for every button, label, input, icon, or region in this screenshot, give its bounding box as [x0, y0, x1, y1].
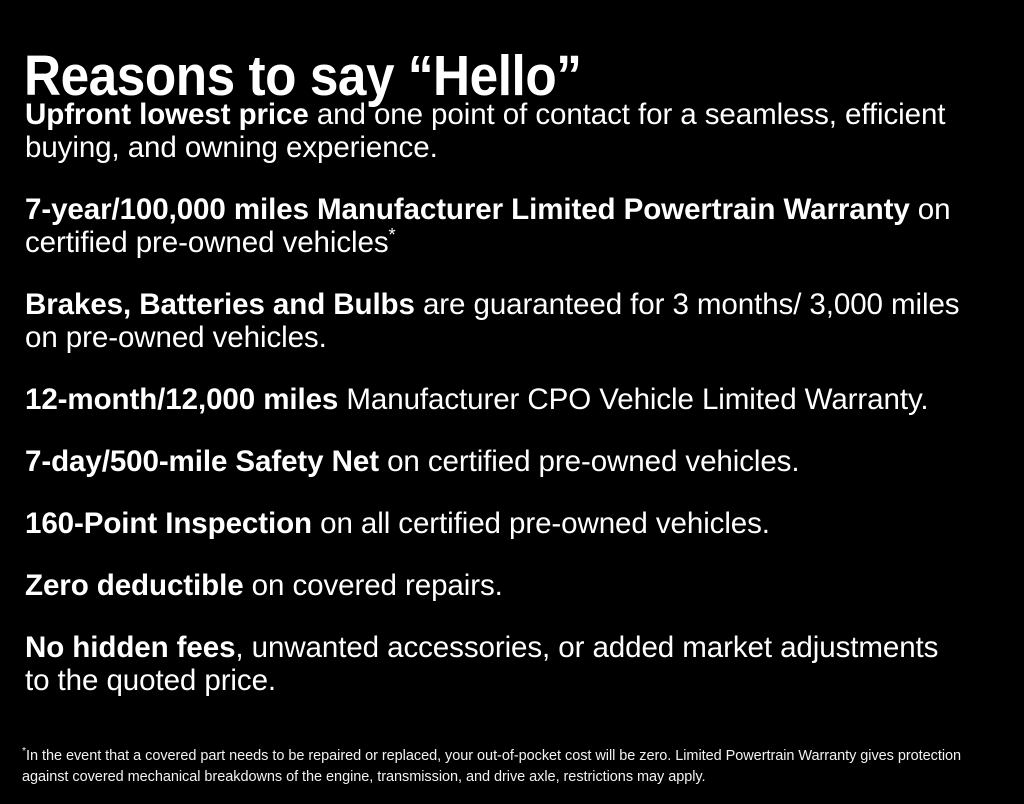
list-item: Zero deductible on covered repairs. — [25, 569, 963, 602]
list-item: 7-day/500-mile Safety Net on certified p… — [25, 445, 963, 478]
reasons-list: Upfront lowest price and one point of co… — [25, 98, 977, 697]
list-item-lead: No hidden fees — [25, 631, 235, 664]
footnote-text: In the event that a covered part needs t… — [22, 748, 961, 786]
list-item: Brakes, Batteries and Bulbs are guarante… — [25, 288, 963, 354]
list-item-lead: 160-Point Inspection — [25, 507, 312, 540]
list-item-lead: 7-year/100,000 miles Manufacturer Limite… — [25, 193, 910, 226]
list-item-lead: Upfront lowest price — [25, 98, 309, 131]
list-item: No hidden fees, unwanted accessories, or… — [25, 631, 963, 697]
list-item-rest: on certified pre-owned vehicles. — [379, 445, 800, 478]
list-item: 7-year/100,000 miles Manufacturer Limite… — [25, 193, 963, 259]
list-item-lead: Brakes, Batteries and Bulbs — [25, 288, 415, 321]
footnote-marker: * — [389, 224, 396, 245]
list-item-rest: Manufacturer CPO Vehicle Limited Warrant… — [338, 383, 928, 416]
list-item-lead: 12-month/12,000 miles — [25, 383, 338, 416]
list-item-rest: on all certified pre-owned vehicles. — [312, 507, 770, 540]
footnote-disclaimer: *In the event that a covered part needs … — [22, 746, 982, 789]
list-item-lead: Zero deductible — [25, 569, 244, 602]
list-item: 160-Point Inspection on all certified pr… — [25, 507, 963, 540]
list-item: 12-month/12,000 miles Manufacturer CPO V… — [25, 383, 963, 416]
list-item: Upfront lowest price and one point of co… — [25, 98, 963, 164]
list-item-rest: on covered repairs. — [244, 569, 503, 602]
slide-canvas: Reasons to say “Hello” Upfront lowest pr… — [0, 0, 1024, 804]
list-item-lead: 7-day/500-mile Safety Net — [25, 445, 379, 478]
